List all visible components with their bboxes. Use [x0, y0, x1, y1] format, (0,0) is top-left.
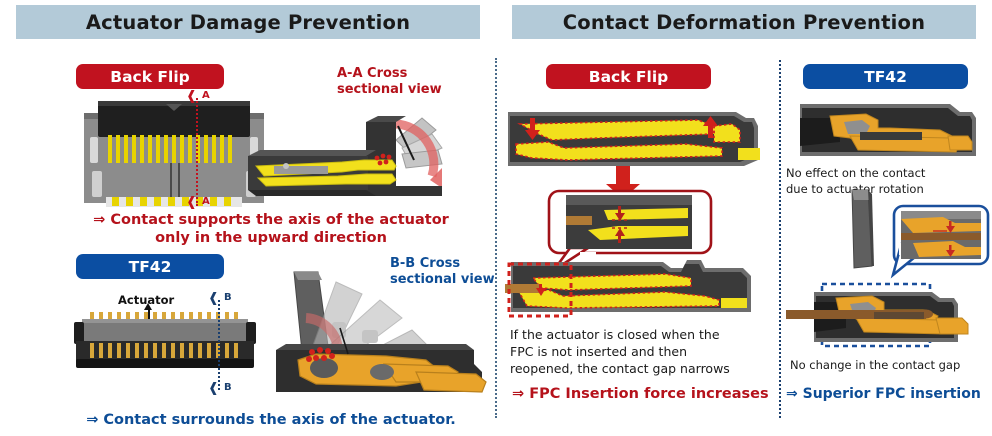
tf42-callout-detail [893, 205, 989, 277]
badge-back-flip-right: Back Flip [546, 64, 711, 89]
backflip-open-section-image [508, 108, 764, 170]
conclusion-backflip-left: ⇒ Contact supports the axis of the actua… [66, 212, 476, 247]
note-backflip-line3: reopened, the contact gap narrows [510, 361, 768, 378]
section-arrow-b-top: ❰ [208, 292, 219, 305]
section-arrow-b-bottom: ❰ [208, 382, 219, 395]
label-aa-line2: sectional view [337, 82, 442, 98]
tf42-actuator-arm [838, 188, 882, 274]
tf42-open-section-image [800, 102, 978, 162]
note-tf42-bottom: No change in the contact gap [790, 358, 960, 374]
conclusion-backflip-right: ⇒ FPC Insertion force increases [512, 386, 769, 402]
section-letter-b-top: B [224, 292, 232, 303]
note-backflip-line1: If the actuator is closed when the [510, 327, 768, 344]
label-aa-line1: A-A Cross [337, 66, 442, 82]
badge-tf42-left: TF42 [76, 254, 224, 279]
section-line-b [218, 300, 220, 390]
note-tf42-top-line2: due to actuator rotation [786, 182, 986, 198]
conclusion-tf42-left: ⇒ Contact surrounds the axis of the actu… [66, 412, 476, 430]
tf42-top-view-image [72, 312, 262, 374]
backflip-closed-section-image [505, 258, 769, 322]
badge-tf42-right: TF42 [803, 64, 968, 89]
section-arrow-a-bottom: ❰ [186, 196, 197, 209]
note-backflip-right: If the actuator is closed when the FPC i… [510, 327, 768, 378]
aa-cross-section-image [246, 104, 486, 204]
tf42-closed-section-image [786, 280, 982, 354]
section-letter-b-bottom: B [224, 382, 232, 393]
section-arrow-a-top: ❰ [186, 90, 197, 103]
note-backflip-line2: FPC is not inserted and then [510, 344, 768, 361]
note-tf42-top: No effect on the contact due to actuator… [786, 166, 986, 197]
note-tf42-top-line1: No effect on the contact [786, 166, 986, 182]
panel-divider [495, 58, 497, 418]
section-letter-a-bottom: A [202, 196, 210, 207]
conclusion-tf42-right: ⇒ Superior FPC insertion [786, 386, 981, 402]
conclusion-backflip-left-line2: only in the upward direction [66, 230, 476, 248]
actuator-arrow-head [144, 303, 152, 310]
section-line-a [196, 98, 198, 206]
backflip-callout-detail [548, 190, 712, 264]
bb-cross-section-image [276, 268, 491, 400]
conclusion-backflip-left-line1: ⇒ Contact supports the axis of the actua… [66, 212, 476, 230]
right-panel-sub-divider [779, 60, 781, 418]
badge-back-flip-left: Back Flip [76, 64, 224, 89]
panel-header-right: Contact Deformation Prevention [512, 5, 976, 39]
section-letter-a-top: A [202, 90, 210, 101]
panel-header-left: Actuator Damage Prevention [16, 5, 480, 39]
comparison-page: Actuator Damage Prevention Contact Defor… [0, 0, 992, 436]
label-aa-cross-section: A-A Cross sectional view [337, 66, 442, 98]
back-flip-top-view-image [78, 97, 270, 207]
